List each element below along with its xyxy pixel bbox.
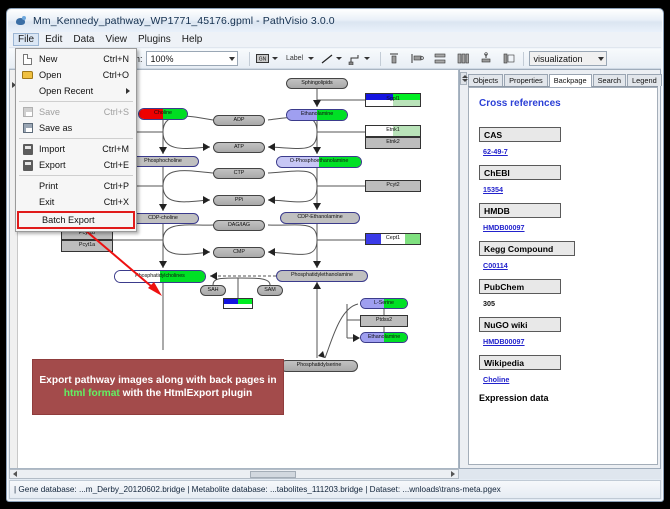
gene-pemt[interactable]: [223, 298, 253, 309]
node-phosphatidylethanolamine[interactable]: Phosphatidylethanolamine: [276, 270, 368, 282]
pemt-strip-left: [224, 299, 238, 304]
panel-scroll-nub[interactable]: [460, 72, 467, 85]
canvas-hscrollbar[interactable]: [9, 469, 459, 479]
menu-accelerator: Ctrl+N: [103, 54, 136, 64]
menu-accelerator: Ctrl+S: [104, 107, 136, 117]
callout-before: Export pathway images along with back pa…: [39, 375, 276, 386]
node-label: CMP: [231, 250, 247, 255]
menu-label: Exit: [35, 197, 104, 207]
distribute-icon[interactable]: [432, 51, 448, 67]
menu-item-print[interactable]: Print Ctrl+P: [16, 178, 136, 194]
cept1-right-fill: [405, 234, 420, 244]
stack-icon[interactable]: [455, 51, 471, 67]
title-bar: Mm_Kennedy_pathway_WP1771_45176.gpml - P…: [8, 10, 662, 32]
backpage-panel: Objects Properties Backpage Search Legen…: [459, 69, 661, 469]
line-icon[interactable]: [319, 51, 335, 67]
menu-label: Import: [35, 144, 102, 154]
tab-search[interactable]: Search: [593, 74, 626, 86]
menu-item-exit[interactable]: Exit Ctrl+X: [16, 194, 136, 210]
xref-wikipedia: Wikipedia Choline: [479, 355, 647, 384]
menu-accelerator: Ctrl+E: [104, 160, 136, 170]
xref-name: ChEBI: [479, 165, 561, 180]
scroll-right-icon[interactable]: [448, 470, 458, 478]
menu-item-import[interactable]: Import Ctrl+M: [16, 141, 136, 157]
menu-separator-1: [19, 101, 133, 102]
save-as-icon: [20, 123, 35, 133]
xref-value-link[interactable]: HMDB00097: [479, 223, 647, 232]
gene-etnk1[interactable]: Etnk1: [365, 125, 421, 137]
menu-label: Print: [35, 181, 104, 191]
callout-highlight: html format: [64, 388, 120, 399]
toolbar-separator-2: [380, 52, 381, 66]
zoom-value: 100%: [151, 54, 174, 64]
menu-label: New: [35, 54, 103, 64]
xref-value-link[interactable]: 62-49-7: [479, 147, 647, 156]
node-phosphocholine[interactable]: Phosphocholine: [127, 156, 199, 167]
align-top-icon[interactable]: [386, 51, 402, 67]
status-text: | Gene database: ...m_Derby_20120602.bri…: [14, 485, 501, 494]
node-label: Pcyt1a: [77, 243, 97, 248]
menu-separator-3: [19, 175, 133, 176]
node-dag-iag[interactable]: DAG/IAG: [213, 220, 265, 231]
menu-item-open-recent[interactable]: Open Recent: [16, 83, 136, 99]
xref-value-link[interactable]: 15354: [479, 185, 647, 194]
xref-value-link[interactable]: Choline: [479, 375, 647, 384]
order-icon[interactable]: [501, 51, 517, 67]
menu-separator-2: [19, 138, 133, 139]
xref-name: PubChem: [479, 279, 561, 294]
gene-ptdss2[interactable]: Ptdss2: [360, 315, 408, 327]
tab-backpage[interactable]: Backpage: [549, 74, 592, 87]
cross-references-heading: Cross references: [479, 98, 647, 109]
node-label: L-Serine: [372, 301, 396, 306]
node-label: DAG/IAG: [226, 223, 252, 228]
node-label: SAM: [262, 288, 278, 293]
node-cdp-ethanolamine[interactable]: CDP-Ethanolamine: [280, 212, 360, 224]
node-ethanolamine-1[interactable]: Ethanolamine: [286, 109, 348, 121]
menu-item-save-as[interactable]: Save as: [16, 120, 136, 136]
pathvisio-icon: [15, 15, 28, 28]
menu-item-save: Save Ctrl+S: [16, 104, 136, 120]
menu-accelerator: Ctrl+P: [104, 181, 136, 191]
node-label: ATP: [232, 145, 246, 150]
node-adp[interactable]: ADP: [213, 115, 265, 126]
node-label: Sgpl1: [384, 97, 402, 102]
toolbar-separator: [249, 52, 250, 66]
node-label: Choline: [152, 111, 174, 116]
node-label: Cept1: [384, 236, 402, 241]
menu-file[interactable]: File: [13, 33, 39, 46]
node-label: CDP-Ethanolamine: [295, 215, 344, 220]
node-sam[interactable]: SAM: [257, 285, 283, 296]
node-ethanolamine-2[interactable]: Ethanolamine: [360, 332, 408, 343]
status-bar: | Gene database: ...m_Derby_20120602.bri…: [9, 480, 661, 499]
group-icon[interactable]: [478, 51, 494, 67]
xref-pubchem: PubChem 305: [479, 279, 647, 308]
menu-label: Batch Export: [38, 215, 133, 225]
node-sah[interactable]: SAH: [200, 285, 226, 296]
menu-data[interactable]: Data: [68, 33, 99, 46]
tab-objects[interactable]: Objects: [468, 74, 503, 86]
menu-label: Export: [35, 160, 104, 170]
tab-legend[interactable]: Legend: [627, 74, 662, 86]
menu-item-open[interactable]: Open Ctrl+O: [16, 67, 136, 83]
export-icon: [20, 160, 35, 171]
gene-pcyt1a[interactable]: Pcyt1a: [61, 240, 113, 252]
tab-properties[interactable]: Properties: [504, 74, 548, 86]
visualization-value: visualization: [534, 54, 583, 64]
toolbar-separator-3: [523, 52, 524, 66]
xref-value-link[interactable]: C00114: [479, 261, 647, 270]
import-icon: [20, 144, 35, 155]
node-sphingolipids[interactable]: Sphingolipids: [286, 78, 348, 89]
xref-cas: CAS 62-49-7: [479, 127, 647, 156]
node-label: Ethanolamine: [366, 335, 402, 340]
node-atp[interactable]: ATP: [213, 142, 265, 153]
chevron-down-icon: [229, 57, 235, 61]
node-phosphatidylcholines[interactable]: Phosphatidylcholines: [114, 270, 206, 283]
node-label: CTP: [232, 171, 247, 176]
gene-etnk2[interactable]: Etnk2: [365, 137, 421, 149]
node-label: Ptdss2: [374, 318, 394, 323]
menu-label: Save as: [35, 123, 129, 133]
menu-accelerator: Ctrl+M: [102, 144, 136, 154]
node-label: Sphingolipids: [299, 81, 334, 86]
xref-hmdb: HMDB HMDB00097: [479, 203, 647, 232]
node-label: O-Phosphoethanolamine: [288, 159, 351, 164]
menu-label: Open Recent: [35, 86, 126, 96]
gene-cept1[interactable]: Cept1: [365, 233, 421, 245]
panel-tabs: Objects Properties Backpage Search Legen…: [468, 72, 658, 87]
node-label: Etnk2: [384, 140, 402, 145]
label-dropdown-icon[interactable]: [308, 57, 314, 60]
node-label: Phosphatidylcholines: [133, 274, 187, 279]
datanode-dropdown-icon[interactable]: [272, 57, 278, 60]
node-cdp-choline[interactable]: CDP-choline: [127, 213, 199, 224]
xref-name: CAS: [479, 127, 561, 142]
menu-bar: File Edit Data View Plugins Help: [9, 32, 661, 48]
menu-plugins[interactable]: Plugins: [133, 33, 176, 46]
application-window: Mm_Kennedy_pathway_WP1771_45176.gpml - P…: [6, 8, 664, 502]
scroll-thumb[interactable]: [250, 471, 296, 478]
callout-text: Export pathway images along with back pa…: [39, 374, 277, 401]
menu-label: Open: [35, 70, 103, 80]
menu-accelerator: Ctrl+X: [104, 197, 136, 207]
menu-item-new[interactable]: New Ctrl+N: [16, 51, 136, 67]
label-icon[interactable]: Label: [283, 51, 307, 67]
node-cmp[interactable]: CMP: [213, 247, 265, 258]
interaction-icon[interactable]: [347, 51, 363, 67]
node-label: Pcyt1b: [77, 231, 97, 236]
xref-nugo-wiki: NuGO wiki HMDB00097: [479, 317, 647, 346]
new-document-icon: [20, 54, 35, 65]
node-label: Phosphatidylethanolamine: [289, 273, 355, 278]
pemt-strip-right: [238, 299, 252, 304]
scroll-left-icon[interactable]: [10, 470, 20, 478]
file-menu-dropdown[interactable]: New Ctrl+N Open Ctrl+O Open Recent Save …: [15, 48, 137, 232]
chevron-down-icon-2: [598, 57, 604, 61]
submenu-arrow-icon: [126, 88, 130, 94]
node-label: SAH: [206, 288, 221, 293]
node-label: Phosphatidylserine: [295, 363, 344, 368]
window-title: Mm_Kennedy_pathway_WP1771_45176.gpml - P…: [33, 15, 335, 27]
xref-value-link[interactable]: HMDB00097: [479, 337, 647, 346]
line-dropdown-icon[interactable]: [336, 57, 342, 60]
menu-label: Save: [35, 107, 104, 117]
menu-item-batch-export[interactable]: Batch Export: [17, 211, 135, 229]
node-choline[interactable]: Choline: [138, 108, 188, 120]
node-label: Ethanolamine: [299, 112, 335, 117]
node-label: ADP: [232, 118, 247, 123]
svg-text:GN: GN: [259, 57, 267, 63]
cept1-left-fill: [366, 234, 381, 244]
menu-edit[interactable]: Edit: [40, 33, 67, 46]
node-label: Phosphocholine: [142, 159, 184, 164]
datanode-icon[interactable]: GN: [255, 51, 271, 67]
node-label: CDP-choline: [146, 216, 180, 221]
menu-accelerator: Ctrl+O: [103, 70, 136, 80]
save-icon: [20, 107, 35, 117]
annotation-callout: Export pathway images along with back pa…: [32, 359, 284, 415]
node-ppi[interactable]: PPi: [213, 195, 265, 206]
node-label: PPi: [233, 198, 245, 203]
xref-kegg-compound: Kegg Compound C00114: [479, 241, 647, 270]
open-folder-icon: [20, 71, 35, 79]
node-phosphatidylserine[interactable]: Phosphatidylserine: [280, 360, 358, 372]
xref-name: Kegg Compound: [479, 241, 575, 256]
zoom-combo[interactable]: 100%: [146, 51, 238, 66]
screenshot-root: Mm_Kennedy_pathway_WP1771_45176.gpml - P…: [0, 0, 670, 509]
node-ctp[interactable]: CTP: [213, 168, 265, 179]
xref-name: NuGO wiki: [479, 317, 561, 332]
gene-pcyt2[interactable]: Pcyt2: [365, 180, 421, 192]
callout-after: with the HtmlExport plugin: [120, 388, 252, 399]
xref-name: HMDB: [479, 203, 561, 218]
node-o-phosphoethanolamine[interactable]: O-Phosphoethanolamine: [276, 156, 362, 168]
backpage-content: Cross references CAS 62-49-7 ChEBI 15354…: [468, 87, 658, 465]
xref-name: Wikipedia: [479, 355, 561, 370]
xref-value: 305: [479, 299, 647, 308]
visualization-combo[interactable]: visualization: [529, 51, 607, 66]
interaction-dropdown-icon[interactable]: [364, 57, 370, 60]
node-l-serine[interactable]: L-Serine: [360, 298, 408, 309]
gene-sgpl1[interactable]: Sgpl1: [365, 93, 421, 107]
node-label: Pcyt2: [384, 183, 401, 188]
menu-item-export[interactable]: Export Ctrl+E: [16, 157, 136, 173]
menu-help[interactable]: Help: [177, 33, 208, 46]
expression-data-heading: Expression data: [479, 393, 647, 403]
align-left-icon[interactable]: [409, 51, 425, 67]
menu-view[interactable]: View: [100, 33, 132, 46]
xref-chebi: ChEBI 15354: [479, 165, 647, 194]
node-label: Etnk1: [384, 128, 402, 133]
